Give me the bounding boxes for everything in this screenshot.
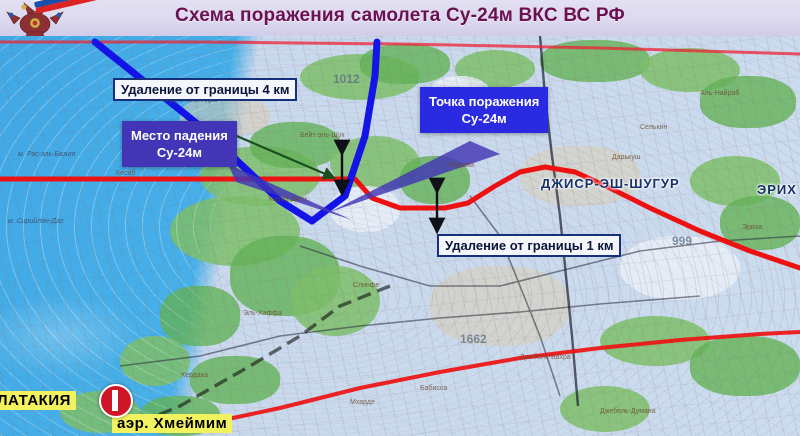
broadcast-slide: Схема поражения самолета Су-24м ВКС ВС Р…: [0, 0, 800, 436]
airbase-khmeimim-marker: [99, 384, 133, 418]
callout-hit-point-line1: Точка поражения: [429, 93, 539, 110]
elevation-1662: 1662: [460, 332, 487, 346]
border-line-lower: [195, 332, 800, 426]
callout-crash-site: Место падения Су-24м: [122, 121, 237, 167]
elevation-999: 999: [672, 234, 692, 248]
border-line-top-edge: [0, 42, 800, 54]
highway-dashed: [120, 286, 390, 431]
elevation-1012: 1012: [333, 72, 360, 86]
city-label-jisr-ash-shughur: ДЖИСР-ЭШ-ШУГУР: [541, 176, 680, 191]
airbase-label-khmeimim: аэр. Хмеймим: [112, 414, 232, 433]
callout-crash-site-line2: Су-24м: [131, 144, 228, 161]
title-bar: Схема поражения самолета Су-24м ВКС ВС Р…: [0, 0, 800, 40]
callout-hit-point: Точка поражения Су-24м: [420, 87, 548, 133]
tactical-map: г. Джебель-Акра м. Рас-эль-Базит м. Сири…: [0, 36, 800, 436]
callout-border-4km: Удаление от границы 4 км: [113, 78, 297, 101]
callout-crash-site-line1: Место падения: [131, 127, 228, 144]
callout-border-1km: Удаление от границы 1 км: [437, 234, 621, 257]
page-title: Схема поражения самолета Су-24м ВКС ВС Р…: [0, 5, 800, 27]
callout-hit-point-line2: Су-24м: [429, 110, 539, 127]
road-network: [120, 196, 800, 396]
city-label-ariha: ЭРИХ: [757, 182, 797, 197]
city-label-latakia: ЛАТАКИЯ: [0, 391, 76, 410]
